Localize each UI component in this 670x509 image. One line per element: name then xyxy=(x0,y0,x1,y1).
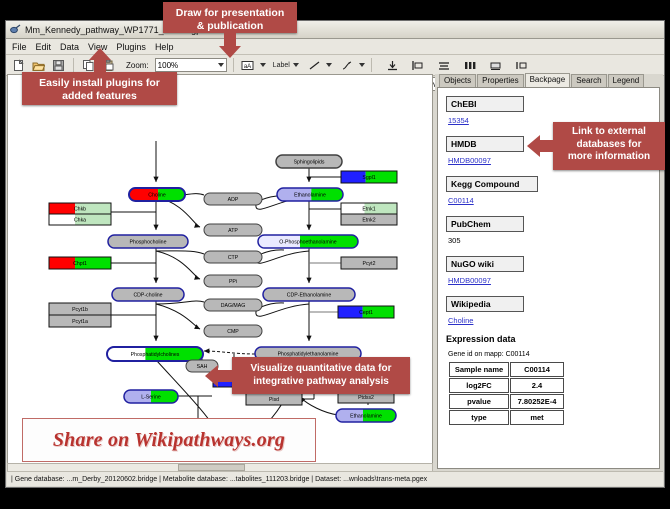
callout-link-line1: Link to external xyxy=(561,126,657,139)
pathway-gene-pcyt1a[interactable]: Pcyt1a xyxy=(49,315,111,327)
datanode-dropdown-icon[interactable] xyxy=(260,63,266,67)
callout-external-databases: Link to external databases for more info… xyxy=(553,122,665,170)
pathway-node-cmp[interactable]: CMP xyxy=(204,325,262,337)
pathway-graph[interactable]: CholinePhosphocholineCDP-cholinePhosphat… xyxy=(8,75,433,471)
pathway-node-phosphocholine[interactable]: Phosphocholine xyxy=(108,235,188,248)
label-tool-label[interactable]: Label xyxy=(273,62,290,69)
pathway-gene-label: Chkb xyxy=(74,207,86,213)
distribute-icon[interactable] xyxy=(462,57,479,74)
callout-draw-arrow-icon xyxy=(219,46,241,58)
pathway-node-label: DAG/MAG xyxy=(221,303,246,309)
callout-link-line2: databases for xyxy=(561,139,657,152)
align-center-icon[interactable] xyxy=(436,57,453,74)
app-icon xyxy=(10,24,21,35)
chevron-down-icon xyxy=(218,63,224,67)
pathway-gene-etnk2[interactable]: Etnk2 xyxy=(341,214,397,225)
database-value-pubchem: 305 xyxy=(448,236,651,245)
pathway-node-choline-top[interactable]: Choline xyxy=(129,188,185,201)
database-entry-wikipedia: Wikipedia Choline xyxy=(446,294,651,325)
table-row: type met xyxy=(449,410,564,425)
callout-draw-line2: & publication xyxy=(171,20,289,33)
pathway-gene-chka[interactable]: Chka xyxy=(49,214,111,225)
pathway-canvas[interactable]: Title: Availa Organ xyxy=(7,74,433,471)
line-icon[interactable] xyxy=(306,57,323,74)
pathway-node-label: L-Serine xyxy=(141,395,161,401)
align-top-icon[interactable] xyxy=(384,57,401,74)
database-name-wikipedia: Wikipedia xyxy=(446,296,524,312)
pathway-node-ethanolamine-top[interactable]: Ethanolamine xyxy=(277,188,343,201)
pathway-node-label: Phosphocholine xyxy=(130,240,167,246)
callout-plugins-stem xyxy=(94,60,106,73)
pathway-node-label: Choline xyxy=(148,193,166,199)
align-left-icon[interactable] xyxy=(410,57,427,74)
database-entry-kegg: Kegg Compound C00114 xyxy=(446,174,651,205)
pathway-node-ctp[interactable]: CTP xyxy=(204,251,262,263)
pathway-gene-label: Sgpl1 xyxy=(362,175,375,181)
pathway-gene-label: Pcyt1a xyxy=(72,319,88,325)
expression-data-table: Sample name C00114 log2FC 2.4 pvalue 7.8… xyxy=(448,361,565,426)
pathway-node-label: Sphingolipids xyxy=(294,160,325,166)
callout-draw-stem xyxy=(224,33,236,47)
callout-draw-line1: Draw for presentation xyxy=(171,7,289,20)
database-link-wikipedia[interactable]: Choline xyxy=(448,316,651,325)
pathway-node-label: CDP-choline xyxy=(133,293,162,299)
pathway-node-label: ADP xyxy=(228,197,239,203)
pathway-node-phosphatidylcholines[interactable]: Phosphatidylcholines xyxy=(107,347,203,361)
expr-key-log2fc: log2FC xyxy=(449,378,509,393)
callout-plugins-line1: Easily install plugins for xyxy=(30,77,169,90)
pathway-node-label: CMP xyxy=(227,329,239,335)
arrow-icon[interactable] xyxy=(339,57,356,74)
database-name-pubchem: PubChem xyxy=(446,216,524,232)
database-link-kegg-compound[interactable]: C00114 xyxy=(448,196,651,205)
pathway-node-atp[interactable]: ATP xyxy=(204,224,262,236)
pathway-gene-label: Pcyt2 xyxy=(363,261,376,267)
pathway-node-ethanolamine-right[interactable]: Ethanolamine xyxy=(336,409,396,422)
tab-legend[interactable]: Legend xyxy=(608,74,645,87)
callout-visualize-data: Visualize quantitative data for integrat… xyxy=(232,357,410,394)
database-name-nugo-wiki: NuGO wiki xyxy=(446,256,524,272)
database-entry-nugo: NuGO wiki HMDB00097 xyxy=(446,254,651,285)
callout-visualize-line1: Visualize quantitative data for xyxy=(240,362,402,375)
pathway-gene-label: Cept1 xyxy=(359,310,373,316)
zoom-value: 100% xyxy=(158,61,178,70)
pathway-node-label: Ethanolamine xyxy=(350,414,382,420)
table-row: pvalue 7.80252E-4 xyxy=(449,394,564,409)
pathway-gene-label: Etnk1 xyxy=(362,207,375,213)
pathway-node-label: O-Phosphoethanolamine xyxy=(279,240,337,246)
expression-data-heading: Expression data xyxy=(446,334,651,344)
menu-item-file[interactable]: File xyxy=(12,42,27,52)
pathway-gene-label: Pisd xyxy=(269,397,279,403)
share-banner: Share on Wikipathways.org xyxy=(22,418,316,462)
pathway-gene-pcyt2[interactable]: Pcyt2 xyxy=(341,257,397,269)
menu-item-data[interactable]: Data xyxy=(60,42,79,52)
pathway-gene-chkb[interactable]: Chkb xyxy=(49,203,111,214)
pathway-node-l-serine-left[interactable]: L-Serine xyxy=(124,390,178,403)
datanode-icon[interactable]: aA xyxy=(240,57,257,74)
pathway-gene-etnk1[interactable]: Etnk1 xyxy=(341,203,397,214)
new-icon[interactable] xyxy=(10,57,27,74)
callout-link-line3: more information xyxy=(561,151,657,164)
share-banner-text: Share on Wikipathways.org xyxy=(53,429,285,452)
zoom-combobox[interactable]: 100% xyxy=(155,58,227,72)
expr-key-pvalue: pvalue xyxy=(449,394,509,409)
status-bar: | Gene database: ...m_Derby_20120602.bri… xyxy=(7,471,663,486)
line-dropdown-icon[interactable] xyxy=(326,63,332,67)
svg-text:aA: aA xyxy=(244,64,251,70)
pathway-node-cdp-choline[interactable]: CDP-choline xyxy=(112,288,184,301)
pathway-gene-pcyt1b[interactable]: Pcyt1b xyxy=(49,303,111,315)
expr-value-log2fc: 2.4 xyxy=(510,378,564,393)
toolbar-divider xyxy=(73,58,74,72)
expr-value-type: met xyxy=(510,410,564,425)
pathway-node-o-phosphoethanolamine[interactable]: O-Phosphoethanolamine xyxy=(258,235,358,248)
expr-value-sample-name: C00114 xyxy=(510,362,564,377)
database-link-nugo-wiki[interactable]: HMDB00097 xyxy=(448,276,651,285)
tab-backpage[interactable]: Backpage xyxy=(525,73,571,87)
callout-link-stem xyxy=(540,140,554,152)
callout-link-arrow-icon xyxy=(527,135,540,157)
pathway-gene-label: Pcyt1b xyxy=(72,307,88,313)
pathway-gene-sgpl1[interactable]: Sgpl1 xyxy=(341,171,397,183)
side-pane-tabs: Objects Properties Backpage Search Legen… xyxy=(435,74,663,87)
screenshot-root: Mm_Kennedy_pathway_WP1771_45176.gpml Fil… xyxy=(0,0,670,509)
pathway-gene-label: Chka xyxy=(74,218,86,224)
database-name-hmdb: HMDB xyxy=(446,136,524,152)
pathway-gene-label: Etnk2 xyxy=(362,218,375,224)
pathway-gene-label: Chpt1 xyxy=(73,261,87,267)
arrow-dropdown-icon[interactable] xyxy=(359,63,365,67)
save-icon[interactable] xyxy=(50,57,67,74)
status-bar-text: | Gene database: ...m_Derby_20120602.bri… xyxy=(11,476,427,483)
expr-key-sample-name: Sample name xyxy=(449,362,509,377)
open-icon[interactable] xyxy=(30,57,47,74)
pathway-node-label: CTP xyxy=(228,255,239,261)
tab-search[interactable]: Search xyxy=(571,74,606,87)
callout-plugins-line2: added features xyxy=(30,90,169,103)
table-row: Sample name C00114 xyxy=(449,362,564,377)
pathway-node-label: CDP-Ethanolamine xyxy=(287,293,332,299)
database-name-chebi: ChEBI xyxy=(446,96,524,112)
pathway-node-label: Phosphatidylcholines xyxy=(131,352,180,358)
table-row: log2FC 2.4 xyxy=(449,378,564,393)
expr-value-pvalue: 7.80252E-4 xyxy=(510,394,564,409)
scrollbar-thumb[interactable] xyxy=(178,464,246,471)
tab-objects[interactable]: Objects xyxy=(439,74,476,87)
menu-item-plugins[interactable]: Plugins xyxy=(116,42,146,52)
pathway-node-label: ATP xyxy=(228,228,238,234)
callout-plugins-arrow-icon xyxy=(89,48,111,60)
group-icon[interactable] xyxy=(488,57,505,74)
title-bar: Mm_Kennedy_pathway_WP1771_45176.gpml xyxy=(6,21,664,39)
pathway-gene-cept1[interactable]: Cept1 xyxy=(338,306,394,318)
pathway-gene-chpt1[interactable]: Chpt1 xyxy=(49,257,111,269)
pathway-node-ppi[interactable]: PPi xyxy=(204,275,262,287)
gene-id-on-mapp: Gene id on mapp: C00114 xyxy=(448,351,651,358)
menu-item-edit[interactable]: Edit xyxy=(36,42,52,52)
label-dropdown-icon[interactable] xyxy=(293,63,299,67)
toolbar-divider-2 xyxy=(233,58,234,72)
database-name-kegg-compound: Kegg Compound xyxy=(446,176,538,192)
callout-install-plugins: Easily install plugins for added feature… xyxy=(22,72,177,105)
pathway-node-dagmag[interactable]: DAG/MAG xyxy=(204,299,262,311)
callout-visualize-stem xyxy=(218,370,233,382)
pathway-node-label: Ethanolamine xyxy=(294,193,326,199)
toolbar-divider-3 xyxy=(371,58,372,72)
callout-visualize-line2: integrative pathway analysis xyxy=(240,375,402,388)
database-entry-pubchem: PubChem 305 xyxy=(446,214,651,245)
pathway-node-sphingolipids[interactable]: Sphingolipids xyxy=(276,155,342,168)
pathway-gene-label: Ptdss2 xyxy=(358,395,374,401)
pathway-node-label: PPi xyxy=(229,279,237,285)
menu-item-help[interactable]: Help xyxy=(155,42,174,52)
callout-visualize-arrow-icon xyxy=(205,365,218,387)
database-entry-chebi: ChEBI 15354 xyxy=(446,94,651,125)
pathway-gene-pisd[interactable]: Pisd xyxy=(246,393,302,405)
pathway-node-adp[interactable]: ADP xyxy=(204,193,262,205)
order-icon[interactable] xyxy=(514,57,531,74)
callout-draw-for-publication: Draw for presentation & publication xyxy=(163,2,297,33)
tab-properties[interactable]: Properties xyxy=(477,74,523,87)
pathway-node-cdp-ethanolamine[interactable]: CDP-Ethanolamine xyxy=(263,288,355,301)
expr-key-type: type xyxy=(449,410,509,425)
zoom-label: Zoom: xyxy=(126,61,149,70)
